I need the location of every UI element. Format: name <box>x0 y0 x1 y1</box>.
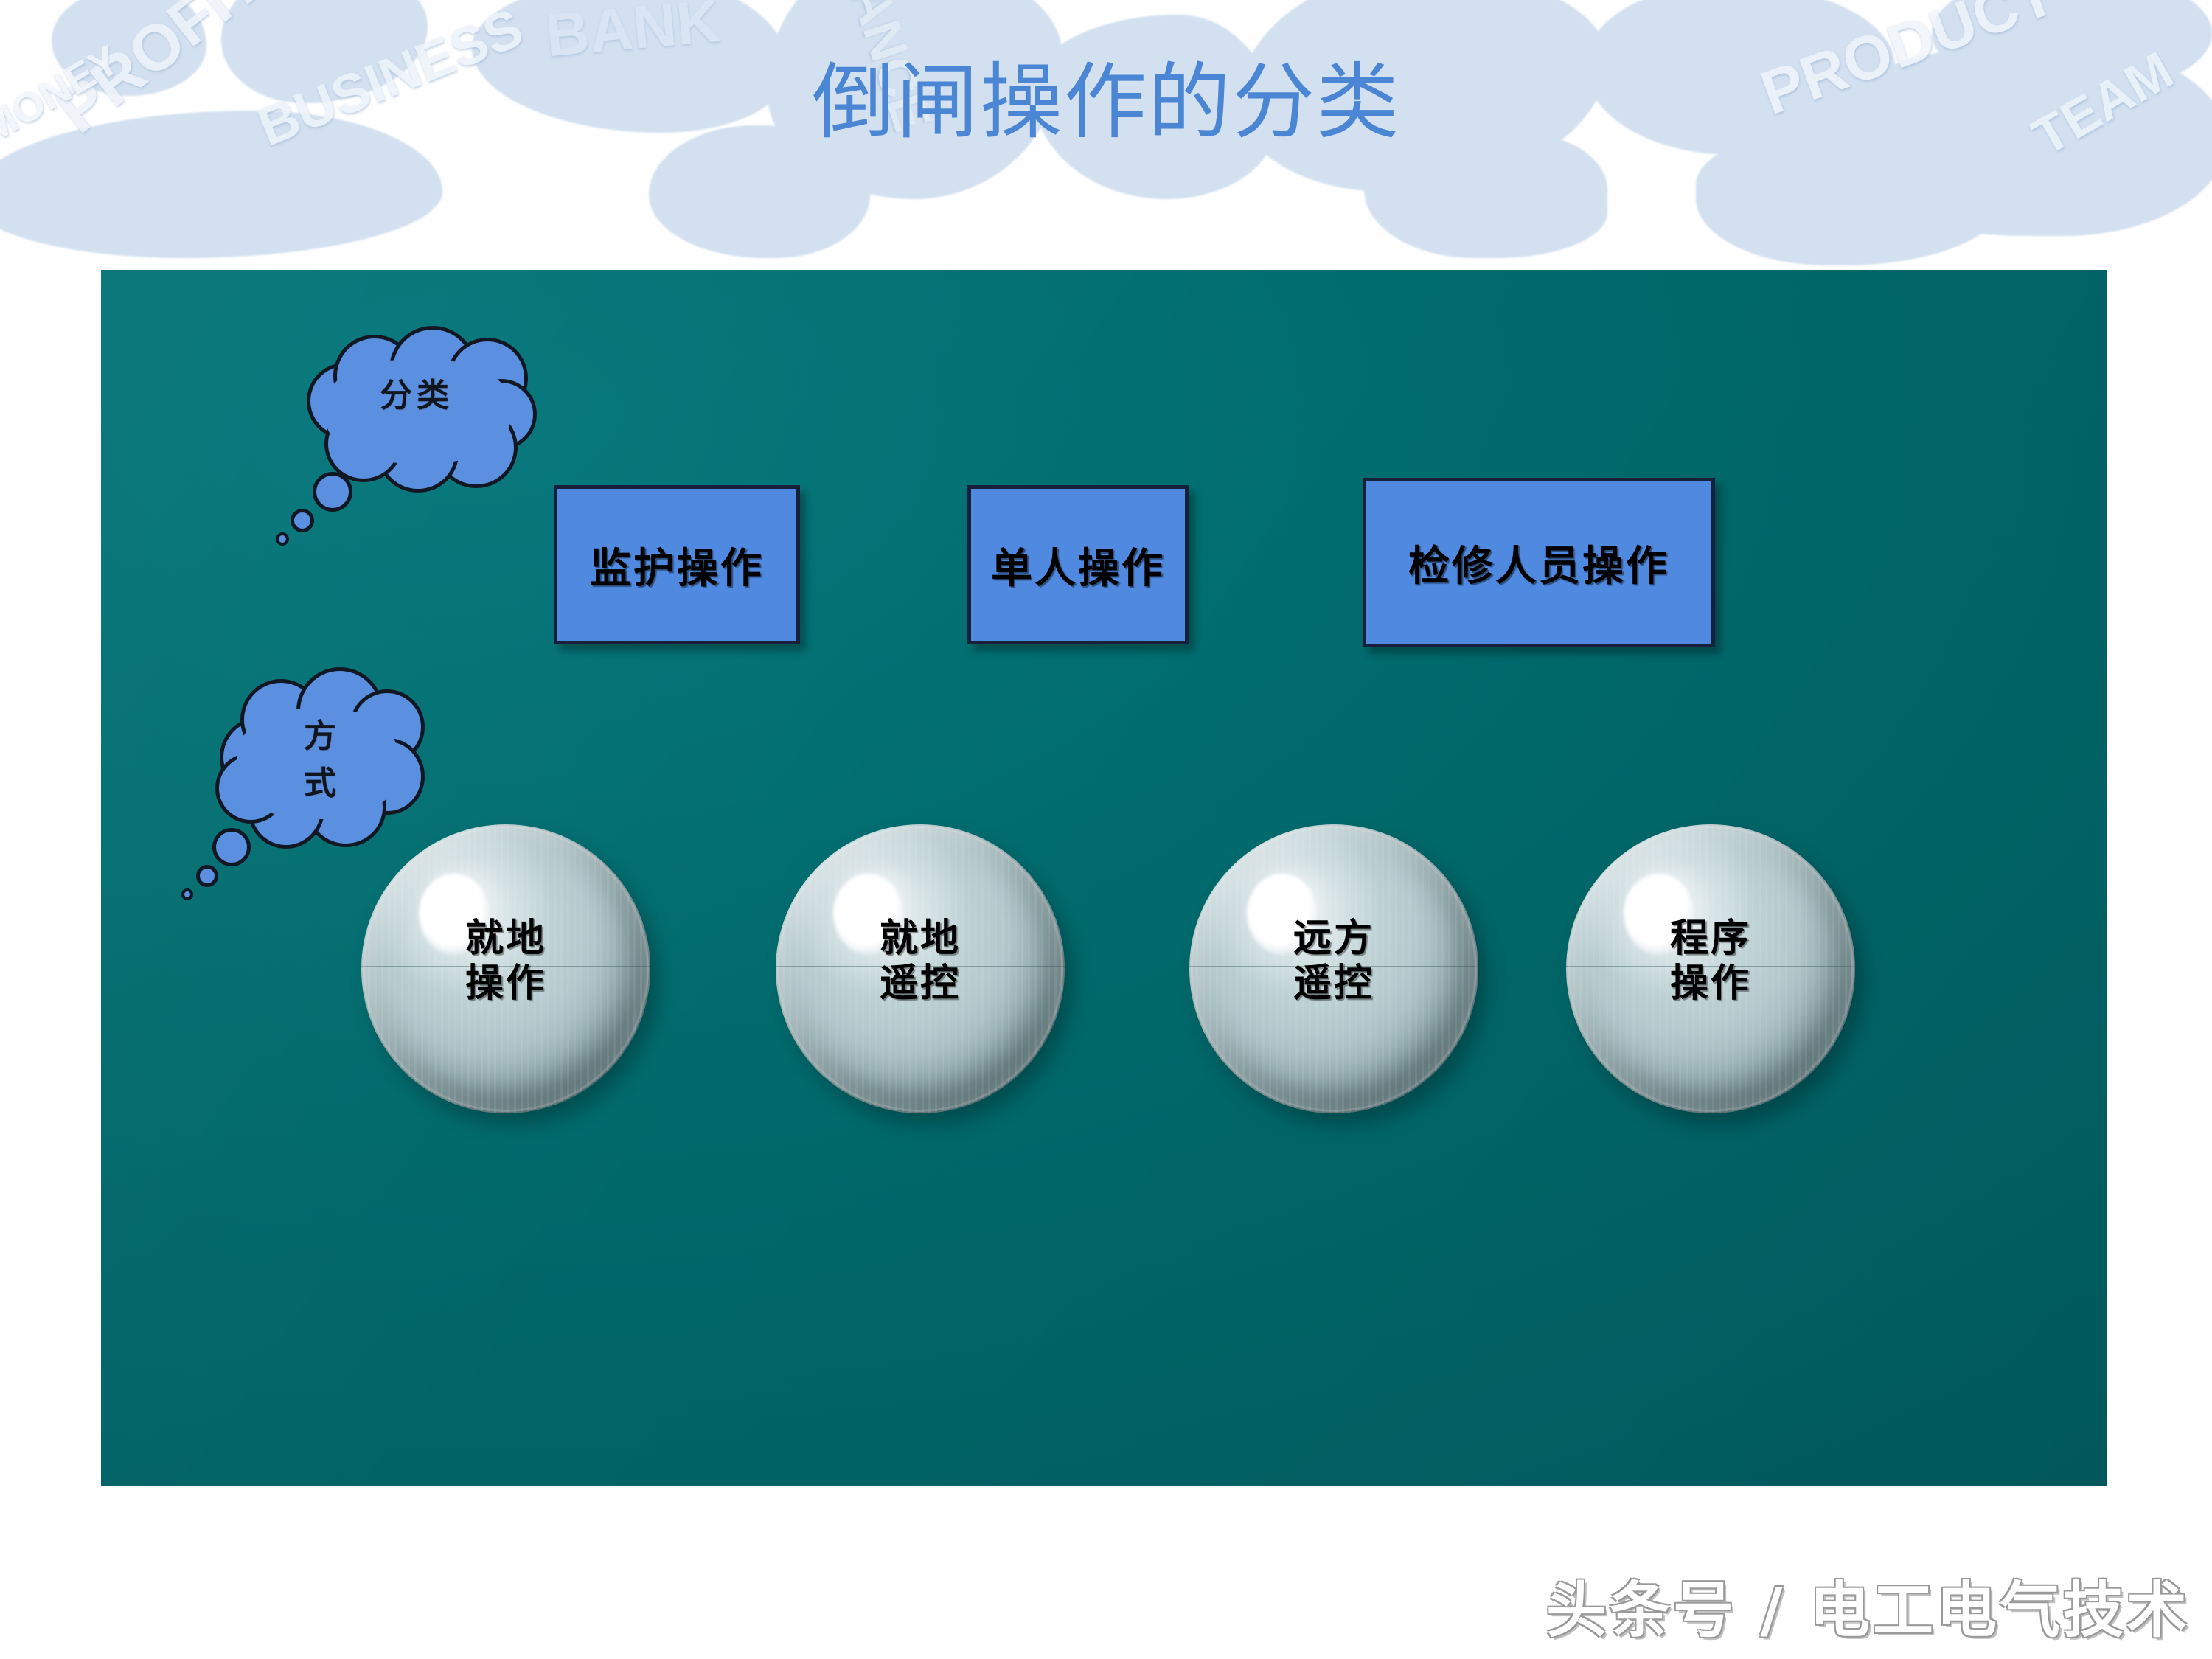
sphere-label-line1: 远方 <box>1189 917 1478 961</box>
sphere-label-line1: 就地 <box>776 917 1065 961</box>
method-sphere-local-operation[interactable]: 就地 操作 <box>361 824 650 1113</box>
sphere-label-line1: 程序 <box>1566 917 1855 961</box>
cloud-tail-small <box>276 532 289 546</box>
thought-bubble-method: 方式 <box>214 667 428 859</box>
bubble-label-classification: 分类 <box>295 379 538 413</box>
sphere-label-line2: 遥控 <box>1189 961 1478 1006</box>
bubble-label-method-char1: 方 <box>214 713 428 760</box>
bubble-label-method-char2: 式 <box>214 760 428 807</box>
sphere-label-line2: 遥控 <box>776 961 1065 1006</box>
cloud-tail-large <box>212 828 251 866</box>
cloud-tail-large <box>313 472 352 512</box>
bubble-label-method: 方式 <box>214 713 428 807</box>
sphere-label-line1: 就地 <box>361 917 650 961</box>
sphere-label: 就地 操作 <box>361 917 650 1007</box>
category-box-supervised-operation[interactable]: 监护操作 <box>554 485 800 644</box>
method-sphere-program-operation[interactable]: 程序 操作 <box>1566 824 1855 1113</box>
cloud-tail-medium <box>196 865 218 887</box>
footer-watermark: 头条号 / 电工电气技术 <box>1546 1561 2190 1649</box>
category-box-maintenance-staff-operation[interactable]: 检修人员操作 <box>1363 478 1715 647</box>
method-sphere-remote-control[interactable]: 远方 遥控 <box>1189 824 1478 1113</box>
sphere-label-line2: 操作 <box>1566 961 1855 1006</box>
sphere-label: 远方 遥控 <box>1189 917 1478 1007</box>
category-box-label: 单人操作 <box>991 535 1165 595</box>
sphere-label: 就地 遥控 <box>776 917 1065 1007</box>
sphere-label: 程序 操作 <box>1566 917 1855 1007</box>
method-sphere-local-remote-control[interactable]: 就地 遥控 <box>776 824 1065 1113</box>
category-box-single-person-operation[interactable]: 单人操作 <box>967 485 1189 644</box>
cloud-tail-small <box>181 888 193 900</box>
thought-bubble-classification: 分类 <box>295 324 538 494</box>
page-title: 倒闸操作的分类 <box>0 50 2212 156</box>
category-box-label: 监护操作 <box>590 535 764 595</box>
category-box-label: 检修人员操作 <box>1408 533 1669 593</box>
sphere-label-line2: 操作 <box>361 961 650 1006</box>
cloud-tail-medium <box>291 509 314 532</box>
